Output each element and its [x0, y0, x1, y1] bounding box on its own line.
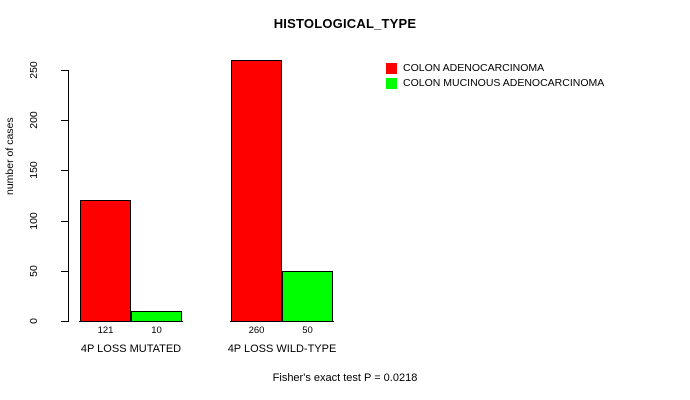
legend-item-label: COLON MUCINOUS ADENOCARCINOMA [403, 78, 604, 89]
y-axis-tick-mark [61, 321, 68, 322]
bar [231, 60, 282, 322]
x-axis-group-label: 4P LOSS WILD-TYPE [191, 343, 373, 355]
y-axis-tick-label-holder: 150 [34, 170, 58, 171]
y-axis-tick-mark [61, 70, 68, 71]
y-axis-tick-label: 50 [29, 259, 40, 283]
legend-item: COLON MUCINOUS ADENOCARCINOMA [386, 76, 604, 91]
y-axis-tick-label: 150 [29, 158, 40, 182]
statistical-test-annotation: Fisher's exact test P = 0.0218 [0, 372, 690, 384]
y-axis-tick-mark [61, 120, 68, 121]
y-axis-tick-label-holder: 0 [34, 321, 58, 322]
y-axis-tick-label: 100 [29, 209, 40, 233]
bar-value-label: 260 [231, 325, 282, 336]
y-axis-title: number of cases [4, 117, 16, 195]
y-axis-tick-label: 0 [29, 309, 40, 333]
chart-legend: COLON ADENOCARCINOMACOLON MUCINOUS ADENO… [386, 61, 604, 91]
y-axis-tick-label-holder: 200 [34, 120, 58, 121]
y-axis-tick-label-holder: 100 [34, 221, 58, 222]
legend-color-swatch-icon [386, 78, 397, 89]
legend-item-label: COLON ADENOCARCINOMA [403, 63, 544, 74]
y-axis-tick-label-holder: 250 [34, 70, 58, 71]
y-axis-line [68, 70, 69, 322]
bar [282, 271, 333, 322]
chart-title: HISTOLOGICAL_TYPE [0, 16, 690, 31]
y-axis-tick-mark [61, 221, 68, 222]
y-axis-tick-label-holder: 50 [34, 271, 58, 272]
y-axis-tick-mark [61, 271, 68, 272]
y-axis-tick-mark [61, 170, 68, 171]
y-axis-tick-label: 200 [29, 108, 40, 132]
legend-item: COLON ADENOCARCINOMA [386, 61, 604, 76]
bar-value-label: 121 [80, 325, 131, 336]
y-axis-tick-label: 250 [29, 58, 40, 82]
bar-chart-plot: HISTOLOGICAL_TYPE 250200150100500 number… [0, 0, 690, 400]
bar [131, 311, 182, 322]
bar [80, 200, 131, 322]
legend-color-swatch-icon [386, 63, 397, 74]
bar-value-label: 50 [282, 325, 333, 336]
bar-value-label: 10 [131, 325, 182, 336]
